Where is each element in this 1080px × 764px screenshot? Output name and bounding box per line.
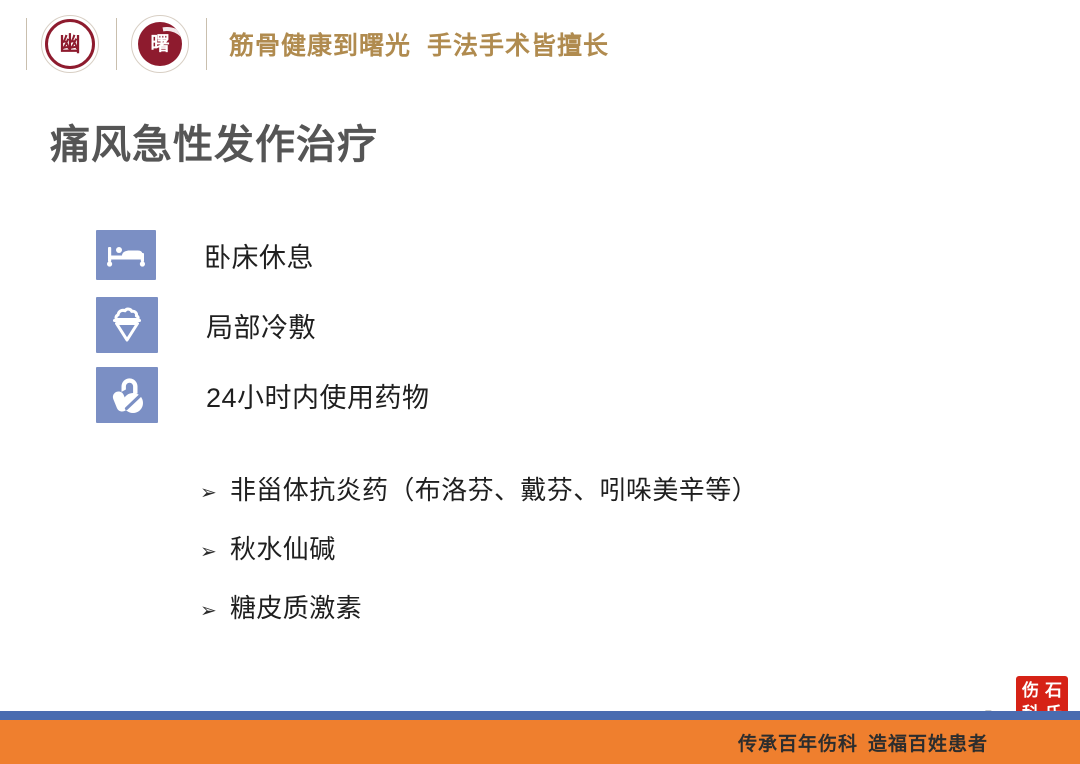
footer-orange-bar: 传承百年伤科造福百姓患者: [0, 720, 1080, 764]
list-item-label: 卧床休息: [204, 236, 314, 275]
header-slogan-right: 手法手术皆擅长: [427, 32, 609, 60]
footer-blue-bar: [0, 711, 1080, 720]
seal-char: 伤: [1019, 679, 1042, 702]
header-divider-right: [206, 18, 207, 70]
page-title: 痛风急性发作治疗: [50, 112, 378, 170]
list-item: 24小时内使用药物: [96, 364, 996, 426]
list-item: 卧床休息: [96, 224, 996, 286]
school-logo: 幽: [41, 15, 99, 73]
brand-logo-swoosh-icon: [138, 22, 182, 66]
header-divider-left: [26, 18, 27, 70]
school-logo-inner: 幽: [45, 19, 95, 69]
header-slogan: 筋骨健康到曙光手法手术皆擅长: [229, 26, 609, 62]
footer-slogan: 传承百年伤科造福百姓患者: [738, 729, 988, 756]
header-divider-middle: [116, 18, 117, 70]
header-slogan-left: 筋骨健康到曙光: [229, 32, 411, 60]
school-logo-circle: 幽: [41, 15, 99, 73]
bullet-arrow-icon: ➢: [200, 542, 230, 562]
footer-slogan-left: 传承百年伤科: [738, 734, 858, 755]
list-item-label: 局部冷敷: [206, 306, 316, 345]
list-item-label: 24小时内使用药物: [206, 376, 430, 415]
treatment-list: 卧床休息 局部冷敷: [96, 224, 996, 434]
slide-root: 幽 曙 筋骨健康到曙光手法手术皆擅长 痛风急性发作治疗: [0, 0, 1080, 764]
brand-logo-inner: 曙: [138, 22, 182, 66]
list-item: ➢ 秋水仙碱: [200, 529, 758, 566]
pills-icon: [96, 367, 158, 423]
list-item-label: 糖皮质激素: [230, 588, 362, 625]
brand-logo: 曙: [131, 15, 189, 73]
bullet-arrow-icon: ➢: [200, 601, 230, 621]
seal-char: 石: [1042, 679, 1065, 702]
footer-slogan-right: 造福百姓患者: [868, 734, 988, 755]
list-item-label: 非甾体抗炎药（布洛芬、戴芬、吲哚美辛等）: [230, 470, 758, 507]
bullet-arrow-icon: ➢: [200, 483, 230, 503]
list-item: ➢ 糖皮质激素: [200, 588, 758, 625]
ice-cream-icon: [96, 297, 158, 353]
slide-header: 幽 曙 筋骨健康到曙光手法手术皆擅长: [0, 0, 1080, 88]
list-item: ➢ 非甾体抗炎药（布洛芬、戴芬、吲哚美辛等）: [200, 470, 758, 507]
medication-sublist: ➢ 非甾体抗炎药（布洛芬、戴芬、吲哚美辛等） ➢ 秋水仙碱 ➢ 糖皮质激素: [200, 470, 758, 647]
school-logo-glyph: 幽: [60, 34, 81, 55]
brand-logo-circle: 曙: [131, 15, 189, 73]
bed-icon: [96, 230, 156, 280]
list-item-label: 秋水仙碱: [230, 529, 336, 566]
list-item: 局部冷敷: [96, 294, 996, 356]
